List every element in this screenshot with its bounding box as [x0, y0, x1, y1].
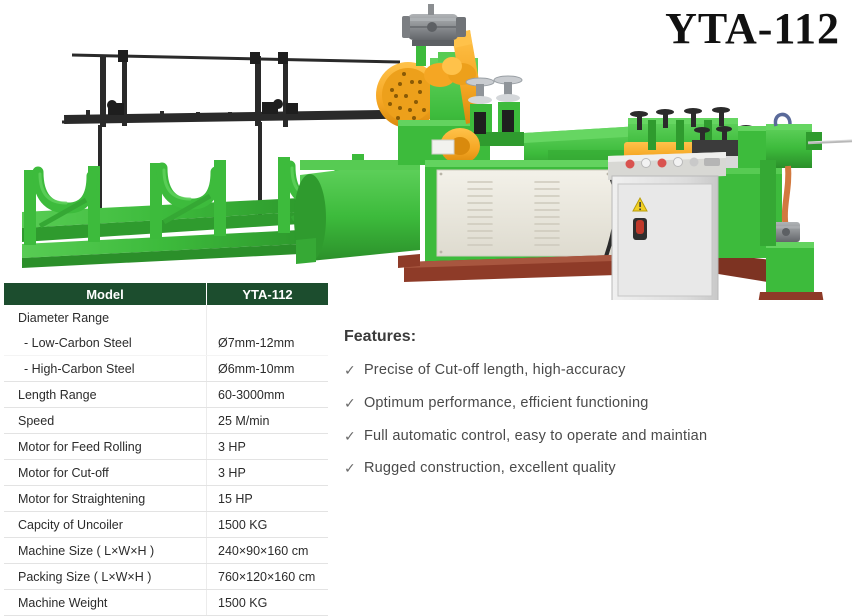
- feature-text: Optimum performance, efficient functioni…: [364, 395, 649, 411]
- table-row: Motor for Cut-off 3 HP: [4, 460, 328, 486]
- spec-label: Diameter Range: [4, 305, 207, 330]
- spec-label: Motor for Cut-off: [4, 460, 207, 486]
- spec-value: 60-3000mm: [207, 382, 329, 408]
- table-row: Machine Weight 1500 KG: [4, 590, 328, 616]
- control-cabinet: [608, 152, 726, 300]
- spec-value: 240×90×160 cm: [207, 538, 329, 564]
- table-row: Machine Size ( L×W×H ) 240×90×160 cm: [4, 538, 328, 564]
- spec-label: - High-Carbon Steel: [4, 356, 207, 382]
- spec-value: 1500 KG: [207, 590, 329, 616]
- spec-value: 15 HP: [207, 486, 329, 512]
- table-row: - Low-Carbon Steel Ø7mm-12mm: [4, 330, 328, 356]
- feature-text: Full automatic control, easy to operate …: [364, 428, 707, 444]
- spec-value: 3 HP: [207, 434, 329, 460]
- feature-item: ✓ Rugged construction, excellent quality: [344, 460, 844, 477]
- table-row: Capcity of Uncoiler 1500 KG: [4, 512, 328, 538]
- features-title: Features:: [344, 328, 844, 346]
- spec-value: Ø7mm-12mm: [207, 330, 329, 356]
- spec-value: [207, 305, 329, 330]
- spec-label: Motor for Feed Rolling: [4, 434, 207, 460]
- table-row: Diameter Range: [4, 305, 328, 330]
- check-icon: ✓: [344, 428, 356, 445]
- check-icon: ✓: [344, 395, 356, 412]
- feature-item: ✓ Precise of Cut-off length, high-accura…: [344, 362, 844, 379]
- table-row: Motor for Straightening 15 HP: [4, 486, 328, 512]
- rotary-switch: [633, 218, 647, 240]
- table-row: Motor for Feed Rolling 3 HP: [4, 434, 328, 460]
- spec-value: 25 M/min: [207, 408, 329, 434]
- table-row: Length Range 60-3000mm: [4, 382, 328, 408]
- spec-value: Ø6mm-10mm: [207, 356, 329, 382]
- header-model: Model: [4, 283, 207, 305]
- spec-value: 1500 KG: [207, 512, 329, 538]
- spec-label: - Low-Carbon Steel: [4, 330, 207, 356]
- table-row: Speed 25 M/min: [4, 408, 328, 434]
- spec-value: 3 HP: [207, 460, 329, 486]
- feature-item: ✓ Optimum performance, efficient functio…: [344, 395, 844, 412]
- table-row: Packing Size ( L×W×H ) 760×120×160 cm: [4, 564, 328, 590]
- spec-label: Motor for Straightening: [4, 486, 207, 512]
- spec-label: Machine Weight: [4, 590, 207, 616]
- page-title: YTA-112: [665, 4, 840, 54]
- feature-item: ✓ Full automatic control, easy to operat…: [344, 428, 844, 445]
- spec-label: Packing Size ( L×W×H ): [4, 564, 207, 590]
- spec-label: Machine Size ( L×W×H ): [4, 538, 207, 564]
- check-icon: ✓: [344, 460, 356, 477]
- spec-label: Length Range: [4, 382, 207, 408]
- header-model-value: YTA-112: [207, 283, 329, 305]
- spec-label: Capcity of Uncoiler: [4, 512, 207, 538]
- table-body: Diameter Range - Low-Carbon Steel Ø7mm-1…: [4, 305, 328, 616]
- spec-value: 760×120×160 cm: [207, 564, 329, 590]
- specifications-table: Model YTA-112 Diameter Range - Low-Carbo…: [4, 283, 328, 616]
- table-header-row: Model YTA-112: [4, 283, 328, 305]
- uncoiler-drum: [294, 160, 420, 264]
- vented-panel: [425, 160, 625, 265]
- check-icon: ✓: [344, 362, 356, 379]
- spec-label: Speed: [4, 408, 207, 434]
- feature-text: Rugged construction, excellent quality: [364, 460, 616, 476]
- features-section: Features: ✓ Precise of Cut-off length, h…: [344, 328, 844, 493]
- table-row: - High-Carbon Steel Ø6mm-10mm: [4, 356, 328, 382]
- feature-text: Precise of Cut-off length, high-accuracy: [364, 362, 626, 378]
